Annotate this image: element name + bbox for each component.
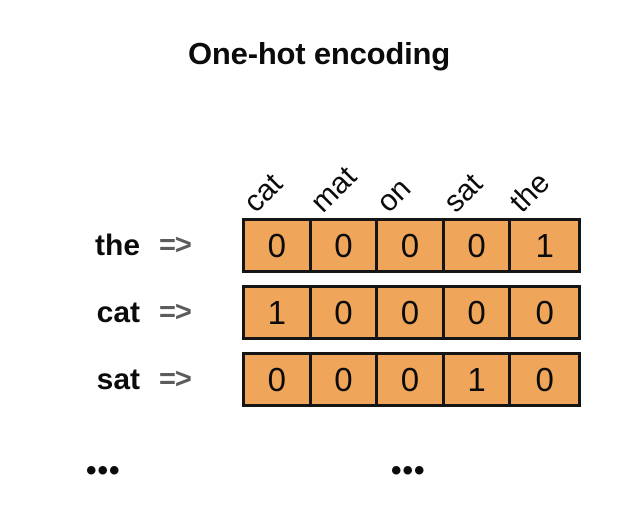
matrix-cell: 0	[378, 355, 445, 404]
matrix-cell: 1	[511, 221, 578, 270]
column-header-on: on	[372, 173, 417, 218]
row-arrow-cat: =>	[159, 285, 191, 340]
row-label-the: the	[40, 218, 140, 273]
column-header-mat: mat	[305, 161, 362, 218]
row-label-cat: cat	[40, 285, 140, 340]
matrix-cell: 0	[312, 288, 379, 337]
matrix-cell: 0	[312, 355, 379, 404]
matrix-cell: 0	[378, 288, 445, 337]
column-header-group: catmatonsatthe	[0, 0, 638, 218]
matrix-row: 10000	[242, 285, 581, 340]
row-arrow-the: =>	[159, 218, 191, 273]
column-header-sat: sat	[439, 168, 489, 218]
matrix-cell: 1	[245, 288, 312, 337]
row-label-sat: sat	[40, 352, 140, 407]
matrix-cell: 0	[378, 221, 445, 270]
column-header-cat: cat	[239, 168, 289, 218]
matrix-cell: 0	[445, 288, 512, 337]
row-arrow-sat: =>	[159, 352, 191, 407]
rows-ellipsis: •••	[86, 456, 121, 486]
matrix-row: 00001	[242, 218, 581, 273]
matrix-cell: 0	[511, 355, 578, 404]
diagram-canvas: One-hot encoding catmatonsatthe the=>000…	[0, 0, 638, 522]
matrix-cell: 0	[445, 221, 512, 270]
matrix-ellipsis: •••	[391, 456, 426, 486]
matrix-cell: 1	[445, 355, 512, 404]
matrix-cell: 0	[245, 221, 312, 270]
matrix-row: 00010	[242, 352, 581, 407]
matrix-cell: 0	[312, 221, 379, 270]
matrix-cell: 0	[245, 355, 312, 404]
column-header-the: the	[505, 167, 556, 218]
matrix-cell: 0	[511, 288, 578, 337]
